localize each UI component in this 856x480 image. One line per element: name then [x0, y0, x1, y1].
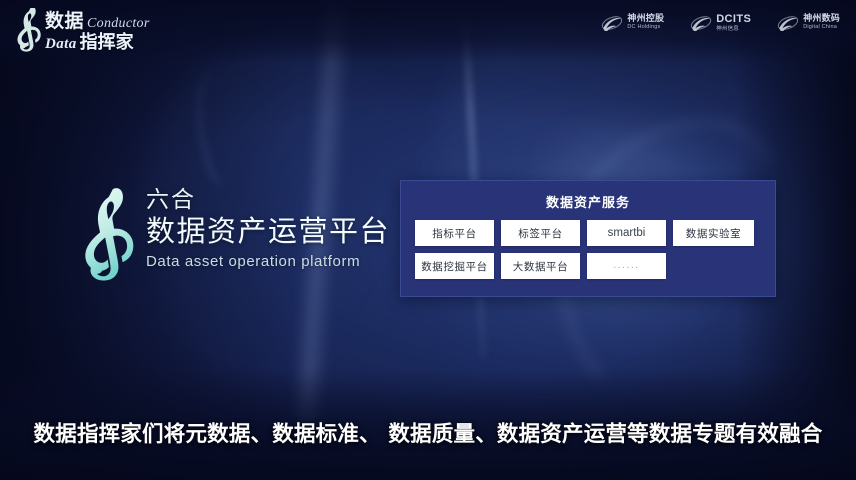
service-tile-data-lab[interactable]: 数据实验室: [673, 220, 754, 246]
page-title-english: Data asset operation platform: [146, 253, 390, 270]
brand-line-2: Data 指挥家: [45, 34, 150, 52]
corporate-logo-group: 神州控股 DC Holdings DCITS 神州信息 神州数码 Digital…: [601, 14, 840, 32]
page-title-subline: 六合: [146, 188, 390, 212]
platform-title-text: 六合 数据资产运营平台 Data asset operation platfor…: [146, 182, 390, 270]
platform-title-block: 六合 数据资产运营平台 Data asset operation platfor…: [74, 182, 390, 296]
corporate-logo-text: DCITS 神州信息: [716, 14, 751, 32]
slide-canvas: 数据 Conductor Data 指挥家 神州控股 DC Holdings: [0, 0, 856, 480]
corporate-logo-text: 神州数码 Digital China: [803, 15, 840, 31]
service-tile-smartbi[interactable]: smartbi: [587, 220, 666, 246]
brand-line1-en: Conductor: [87, 17, 150, 31]
data-asset-service-panel: 数据资产服务 指标平台 标签平台 smartbi 数据实验室 数据挖掘平台 大数…: [400, 180, 776, 297]
corporate-logo-digital-china: 神州数码 Digital China: [777, 15, 840, 31]
swirl-logo-icon: [601, 15, 623, 31]
corporate-name-en: DC Holdings: [627, 25, 664, 31]
service-tile-grid: 指标平台 标签平台 smartbi 数据实验室 数据挖掘平台 大数据平台 ...…: [401, 211, 775, 279]
treble-clef-icon: [12, 8, 42, 56]
brand-line-1: 数据 Conductor: [45, 12, 150, 31]
corporate-name-en: Digital China: [803, 25, 840, 31]
panel-heading: 数据资产服务: [401, 181, 775, 211]
corporate-name-cn: 神州控股: [627, 15, 664, 24]
brand-logo: 数据 Conductor Data 指挥家: [12, 8, 150, 56]
corporate-name-en: 神州信息: [716, 27, 751, 33]
swirl-logo-icon: [690, 15, 712, 31]
brand-line2-en: Data: [45, 37, 77, 52]
brand-line1-cn: 数据: [45, 12, 84, 31]
service-tile-tag-platform[interactable]: 标签平台: [501, 220, 580, 246]
service-tile-big-data-platform[interactable]: 大数据平台: [501, 253, 580, 279]
corporate-logo-text: 神州控股 DC Holdings: [627, 15, 664, 31]
slide-caption: 数据指挥家们将元数据、数据标准、 数据质量、数据资产运营等数据专题有效融合: [0, 417, 856, 448]
service-tile-data-mining[interactable]: 数据挖掘平台: [415, 253, 494, 279]
corporate-name-cn: 神州数码: [803, 15, 840, 24]
brand-wordmark: 数据 Conductor Data 指挥家: [45, 12, 150, 52]
corporate-name-cn: DCITS: [716, 14, 751, 26]
service-tile-more[interactable]: ......: [587, 253, 666, 279]
page-title: 数据资产运营平台: [146, 214, 390, 248]
brand-line2-cn: 指挥家: [80, 34, 134, 52]
corporate-logo-dc-holdings: 神州控股 DC Holdings: [601, 15, 664, 31]
corporate-logo-dcits: DCITS 神州信息: [690, 14, 751, 32]
service-tile-indicator-platform[interactable]: 指标平台: [415, 220, 494, 246]
swirl-logo-icon: [777, 15, 799, 31]
treble-clef-icon: [74, 184, 136, 296]
